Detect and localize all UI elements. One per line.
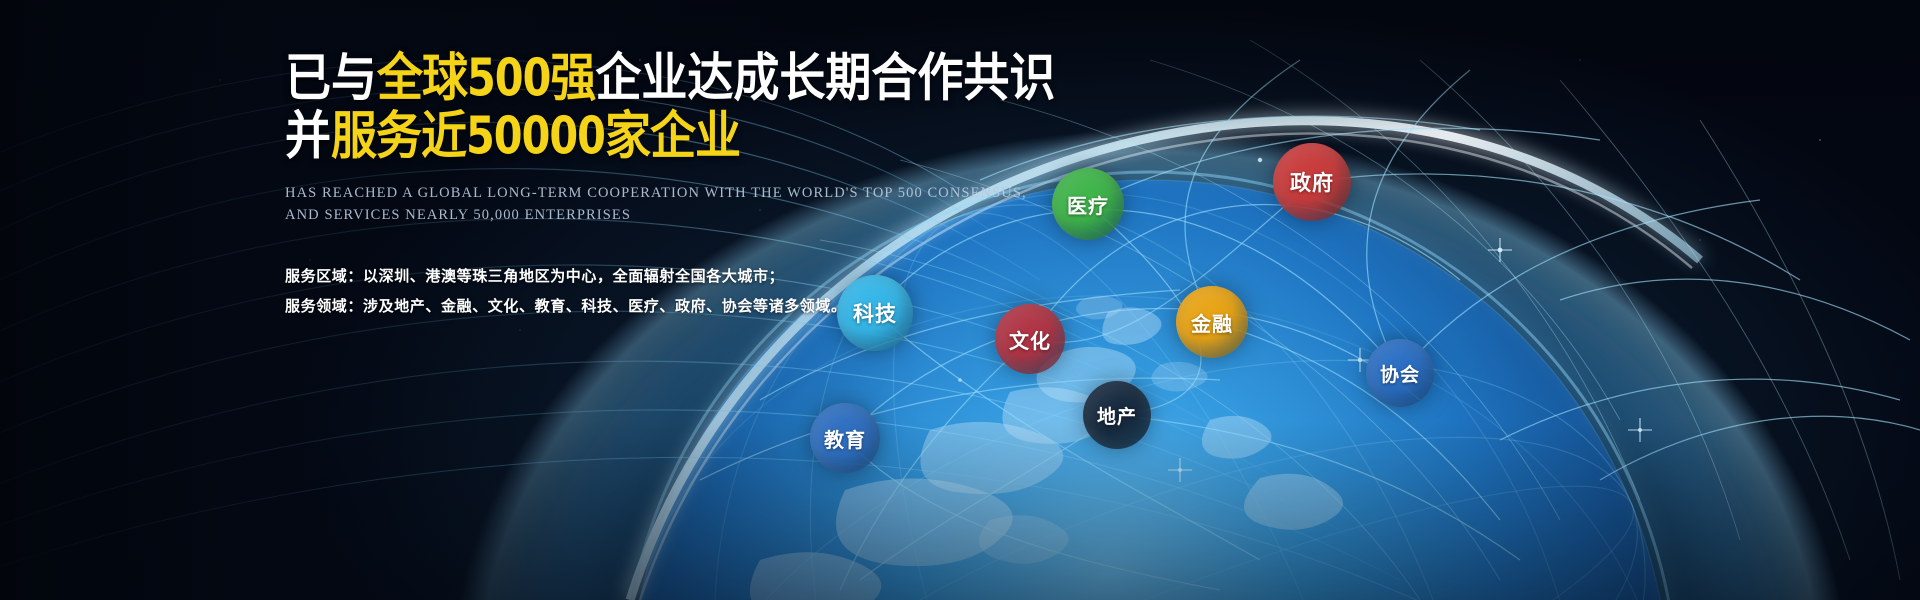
hero-banner: 已与全球500强企业达成长期合作共识 并服务近50000家企业 HAS REAC… bbox=[0, 0, 1920, 600]
body-text: 服务区域：以深圳、港澳等珠三角地区为中心，全面辐射全国各大城市； 服务领域：涉及… bbox=[285, 261, 1045, 321]
sector-bubble-label: 政府 bbox=[1290, 167, 1334, 197]
sector-bubble-label: 文化 bbox=[1009, 325, 1051, 354]
headline-line1-seg-white-2: 企业达成长期合作共识 bbox=[595, 48, 1055, 108]
headline-line2-seg-yellow: 服务近50000家企业 bbox=[331, 106, 740, 166]
sector-bubble-6[interactable]: 地产 bbox=[1083, 381, 1151, 449]
sector-bubble-label: 协会 bbox=[1380, 360, 1420, 387]
headline: 已与全球500强企业达成长期合作共识 并服务近50000家企业 bbox=[285, 52, 1045, 156]
english-subtitle: HAS REACHED A GLOBAL LONG-TERM COOPERATI… bbox=[285, 182, 1045, 227]
sector-bubble-5[interactable]: 协会 bbox=[1366, 339, 1434, 407]
sector-bubble-label: 地产 bbox=[1097, 402, 1137, 429]
headline-line2-seg-white: 并 bbox=[285, 106, 331, 166]
sector-bubble-label: 金融 bbox=[1191, 308, 1233, 337]
sector-bubble-7[interactable]: 教育 bbox=[810, 403, 880, 473]
english-subtitle-line-2: AND SERVICES NEARLY 50,000 ENTERPRISES bbox=[285, 204, 1045, 226]
body-text-line-1: 服务区域：以深圳、港澳等珠三角地区为中心，全面辐射全国各大城市； bbox=[285, 261, 1045, 291]
headline-line-1: 已与全球500强企业达成长期合作共识 bbox=[285, 52, 1045, 104]
sector-bubble-3[interactable]: 金融 bbox=[1176, 286, 1248, 358]
english-subtitle-line-1: HAS REACHED A GLOBAL LONG-TERM COOPERATI… bbox=[285, 182, 1045, 204]
headline-line-2: 并服务近50000家企业 bbox=[285, 110, 1045, 162]
sector-bubble-1[interactable]: 医疗 bbox=[1052, 168, 1124, 240]
copy-block: 已与全球500强企业达成长期合作共识 并服务近50000家企业 HAS REAC… bbox=[285, 52, 1045, 321]
headline-line1-seg-white-1: 已与 bbox=[285, 48, 377, 108]
sector-bubble-0[interactable]: 政府 bbox=[1273, 143, 1351, 221]
sector-bubble-label: 医疗 bbox=[1067, 190, 1109, 219]
sector-bubble-label: 教育 bbox=[824, 424, 866, 453]
headline-line1-seg-yellow: 全球500强 bbox=[377, 48, 595, 108]
body-text-line-2: 服务领域：涉及地产、金融、文化、教育、科技、医疗、政府、协会等诸多领域。 bbox=[285, 291, 1045, 321]
